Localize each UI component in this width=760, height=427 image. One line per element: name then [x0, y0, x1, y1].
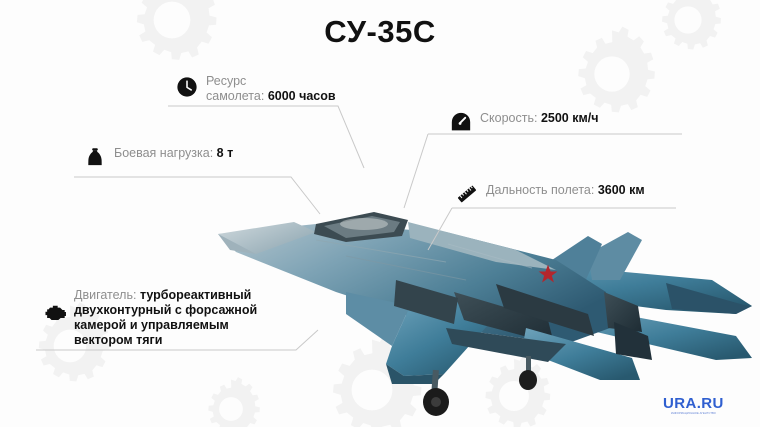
callout-engine: Двигатель: турбореактивный двухконтурный…: [44, 288, 280, 348]
logo-wordmark: URA.RU: [663, 396, 724, 412]
callout-engine-text: Двигатель: турбореактивный двухконтурный…: [74, 288, 280, 348]
callout-resource-text: Ресурс самолета: 6000 часов: [206, 74, 336, 104]
gear-decoration: [470, 352, 558, 427]
callout-speed-value: 2500 км/ч: [541, 111, 599, 125]
callout-resource-label: Ресурс: [206, 74, 246, 88]
page-title: СУ-35С: [0, 14, 760, 50]
speedometer-icon: [450, 111, 472, 133]
weight-icon: [84, 146, 106, 168]
clock-icon: [176, 76, 198, 98]
callout-range: Дальность полета: 3600 км: [456, 183, 645, 205]
callout-speed-label: Скорость:: [480, 111, 537, 125]
callout-speed: Скорость: 2500 км/ч: [450, 111, 598, 133]
infographic-root: СУ-35С: [0, 0, 760, 427]
callout-range-text: Дальность полета: 3600 км: [486, 183, 645, 198]
logo-tagline: ИНФОРМАЦИОННОЕ АГЕНТСТВО: [663, 412, 724, 416]
leader-lines: [0, 0, 760, 427]
callout-engine-label: Двигатель:: [74, 288, 136, 302]
callout-payload-text: Боевая нагрузка: 8 т: [114, 146, 233, 161]
engine-icon: [44, 302, 66, 324]
ura-ru-logo[interactable]: URA.RU ИНФОРМАЦИОННОЕ АГЕНТСТВО: [663, 396, 724, 416]
callout-payload-label: Боевая нагрузка:: [114, 146, 213, 160]
callout-speed-text: Скорость: 2500 км/ч: [480, 111, 598, 126]
callout-range-value: 3600 км: [598, 183, 645, 197]
leader-line-speed-tail: [404, 134, 428, 208]
callout-resource-label2: самолета:: [206, 89, 264, 103]
callout-payload-value: 8 т: [217, 146, 234, 160]
leader-line-range-tail: [428, 208, 452, 250]
callout-payload: Боевая нагрузка: 8 т: [84, 146, 233, 168]
gear-decoration: [196, 374, 266, 427]
callout-resource-value: 6000 часов: [268, 89, 336, 103]
callout-range-label: Дальность полета:: [486, 183, 594, 197]
leader-line-payload: [74, 177, 320, 214]
background-pattern: [0, 0, 760, 427]
ruler-icon: [456, 183, 478, 205]
callout-resource: Ресурс самолета: 6000 часов: [176, 74, 336, 104]
gear-decoration: [312, 330, 432, 427]
